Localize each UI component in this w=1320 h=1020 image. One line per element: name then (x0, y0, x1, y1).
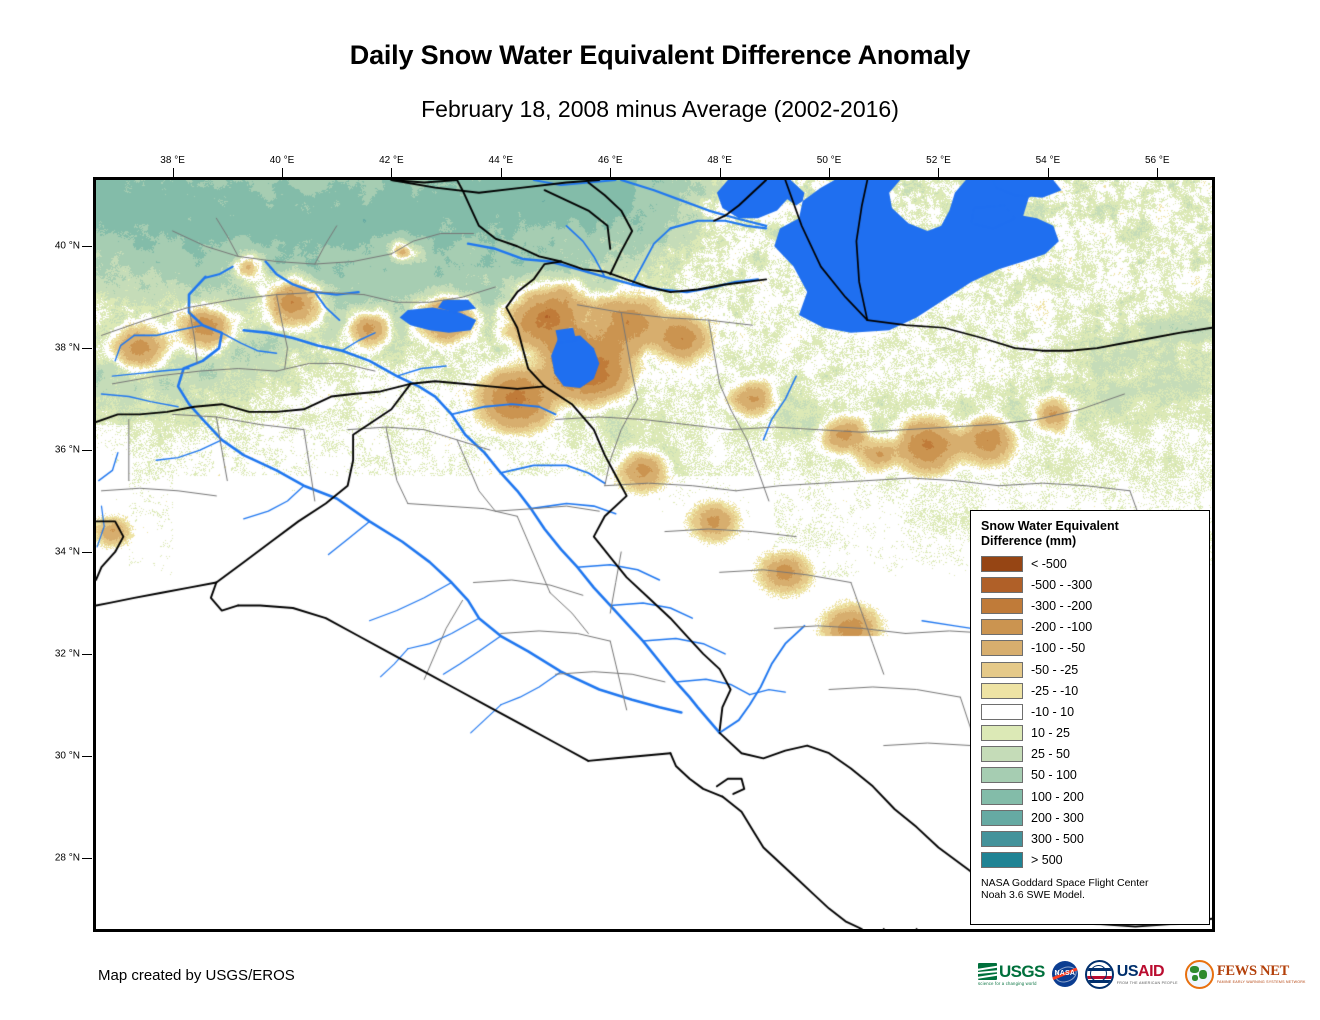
lon-tick-label: 54 °E (1036, 155, 1061, 166)
lat-tick-label: 32 °N (40, 648, 80, 659)
legend-row: -25 - -10 (981, 680, 1199, 701)
legend-row: -100 - -50 (981, 638, 1199, 659)
legend-row: -200 - -100 (981, 617, 1199, 638)
legend-swatch (981, 683, 1023, 699)
legend-row: 10 - 25 (981, 723, 1199, 744)
legend-swatch (981, 662, 1023, 678)
fewsnet-logo[interactable]: FEWS NET FAMINE EARLY WARNING SYSTEMS NE… (1185, 957, 1306, 991)
legend-label: 200 - 300 (1031, 811, 1084, 825)
lon-tick-mark (501, 168, 502, 177)
usaid-logo-subtext: FROM THE AMERICAN PEOPLE (1117, 981, 1178, 985)
usgs-logo-text: USGS (999, 963, 1045, 980)
legend-row: 50 - 100 (981, 765, 1199, 786)
legend-label: -300 - -200 (1031, 599, 1092, 613)
lat-tick-label: 38 °N (40, 343, 80, 354)
lon-tick-mark (610, 168, 611, 177)
lat-tick-mark (82, 246, 92, 247)
nasa-logo-text: NASA (1052, 970, 1078, 977)
legend-swatch (981, 789, 1023, 805)
legend-title: Snow Water Equivalent Difference (mm) (981, 519, 1199, 549)
legend-source-note: NASA Goddard Space Flight Center Noah 3.… (981, 877, 1199, 902)
usgs-waves-icon (978, 963, 997, 980)
legend-swatch (981, 767, 1023, 783)
lon-tick-mark (720, 168, 721, 177)
logo-bar: USGS science for a changing world NASA U… (978, 956, 1306, 992)
lat-tick-label: 34 °N (40, 546, 80, 557)
lon-tick-mark (173, 168, 174, 177)
legend-row: < -500 (981, 553, 1199, 574)
lon-tick-mark (829, 168, 830, 177)
lon-tick-label: 38 °E (160, 155, 185, 166)
lat-tick-label: 40 °N (40, 241, 80, 252)
map-credit: Map created by USGS/EROS (98, 967, 295, 984)
lon-tick-mark (1157, 168, 1158, 177)
legend-swatch (981, 577, 1023, 593)
legend-label: 300 - 500 (1031, 832, 1084, 846)
legend-row: -50 - -25 (981, 659, 1199, 680)
legend-row: 300 - 500 (981, 828, 1199, 849)
legend-label: < -500 (1031, 557, 1067, 571)
legend-label: 10 - 25 (1031, 726, 1070, 740)
lon-tick-mark (938, 168, 939, 177)
legend-label: -10 - 10 (1031, 705, 1074, 719)
lon-tick-label: 46 °E (598, 155, 623, 166)
fewsnet-logo-subtext: FAMINE EARLY WARNING SYSTEMS NETWORK (1217, 980, 1306, 984)
lat-tick-mark (82, 552, 92, 553)
legend-row: -300 - -200 (981, 595, 1199, 616)
usgs-logo[interactable]: USGS science for a changing world (978, 957, 1045, 991)
lat-tick-label: 28 °N (40, 852, 80, 863)
page-title: Daily Snow Water Equivalent Difference A… (0, 40, 1320, 71)
legend-label: 25 - 50 (1031, 747, 1070, 761)
usaid-logo-text: USAID (1117, 964, 1178, 980)
legend-swatch (981, 556, 1023, 572)
lon-tick-mark (391, 168, 392, 177)
lat-tick-mark (82, 756, 92, 757)
lat-tick-label: 36 °N (40, 445, 80, 456)
legend-swatch (981, 598, 1023, 614)
legend-swatch (981, 704, 1023, 720)
fewsnet-logo-text: FEWS NET (1217, 964, 1306, 979)
usgs-logo-subtext: science for a changing world (978, 981, 1037, 986)
lon-tick-label: 44 °E (489, 155, 514, 166)
lon-tick-label: 56 °E (1145, 155, 1170, 166)
lon-tick-mark (282, 168, 283, 177)
legend-swatch (981, 810, 1023, 826)
legend-swatch (981, 852, 1023, 868)
legend-label: -50 - -25 (1031, 663, 1078, 677)
lon-tick-label: 52 °E (926, 155, 951, 166)
legend-swatch (981, 746, 1023, 762)
nasa-logo[interactable]: NASA (1052, 957, 1078, 991)
lat-tick-label: 30 °N (40, 750, 80, 761)
lon-tick-label: 40 °E (270, 155, 295, 166)
legend-label: > 500 (1031, 853, 1063, 867)
lat-tick-mark (82, 450, 92, 451)
map-page: Daily Snow Water Equivalent Difference A… (0, 0, 1320, 1020)
lon-tick-label: 50 °E (817, 155, 842, 166)
fewsnet-globe-icon (1185, 960, 1214, 989)
legend-class-list: < -500-500 - -300-300 - -200-200 - -100-… (981, 553, 1199, 871)
lon-tick-label: 48 °E (707, 155, 732, 166)
lat-tick-mark (82, 348, 92, 349)
lon-tick-label: 42 °E (379, 155, 404, 166)
lon-tick-mark (1048, 168, 1049, 177)
legend-label: -25 - -10 (1031, 684, 1078, 698)
legend-label: -500 - -300 (1031, 578, 1092, 592)
legend-label: -200 - -100 (1031, 620, 1092, 634)
nasa-meatball-icon: NASA (1052, 961, 1078, 987)
legend-row: -500 - -300 (981, 574, 1199, 595)
legend-swatch (981, 640, 1023, 656)
legend-label: 50 - 100 (1031, 768, 1077, 782)
page-subtitle: February 18, 2008 minus Average (2002-20… (0, 96, 1320, 123)
lat-tick-mark (82, 858, 92, 859)
legend-swatch (981, 831, 1023, 847)
legend-row: -10 - 10 (981, 701, 1199, 722)
legend-row: 25 - 50 (981, 744, 1199, 765)
legend-label: -100 - -50 (1031, 641, 1085, 655)
legend-panel: Snow Water Equivalent Difference (mm) < … (970, 510, 1210, 925)
legend-swatch (981, 725, 1023, 741)
legend-row: 200 - 300 (981, 807, 1199, 828)
legend-row: > 500 (981, 850, 1199, 871)
legend-label: 100 - 200 (1031, 790, 1084, 804)
legend-row: 100 - 200 (981, 786, 1199, 807)
usaid-logo[interactable]: USAID FROM THE AMERICAN PEOPLE (1085, 957, 1178, 991)
usaid-seal-icon (1085, 960, 1114, 989)
lat-tick-mark (82, 654, 92, 655)
legend-swatch (981, 619, 1023, 635)
